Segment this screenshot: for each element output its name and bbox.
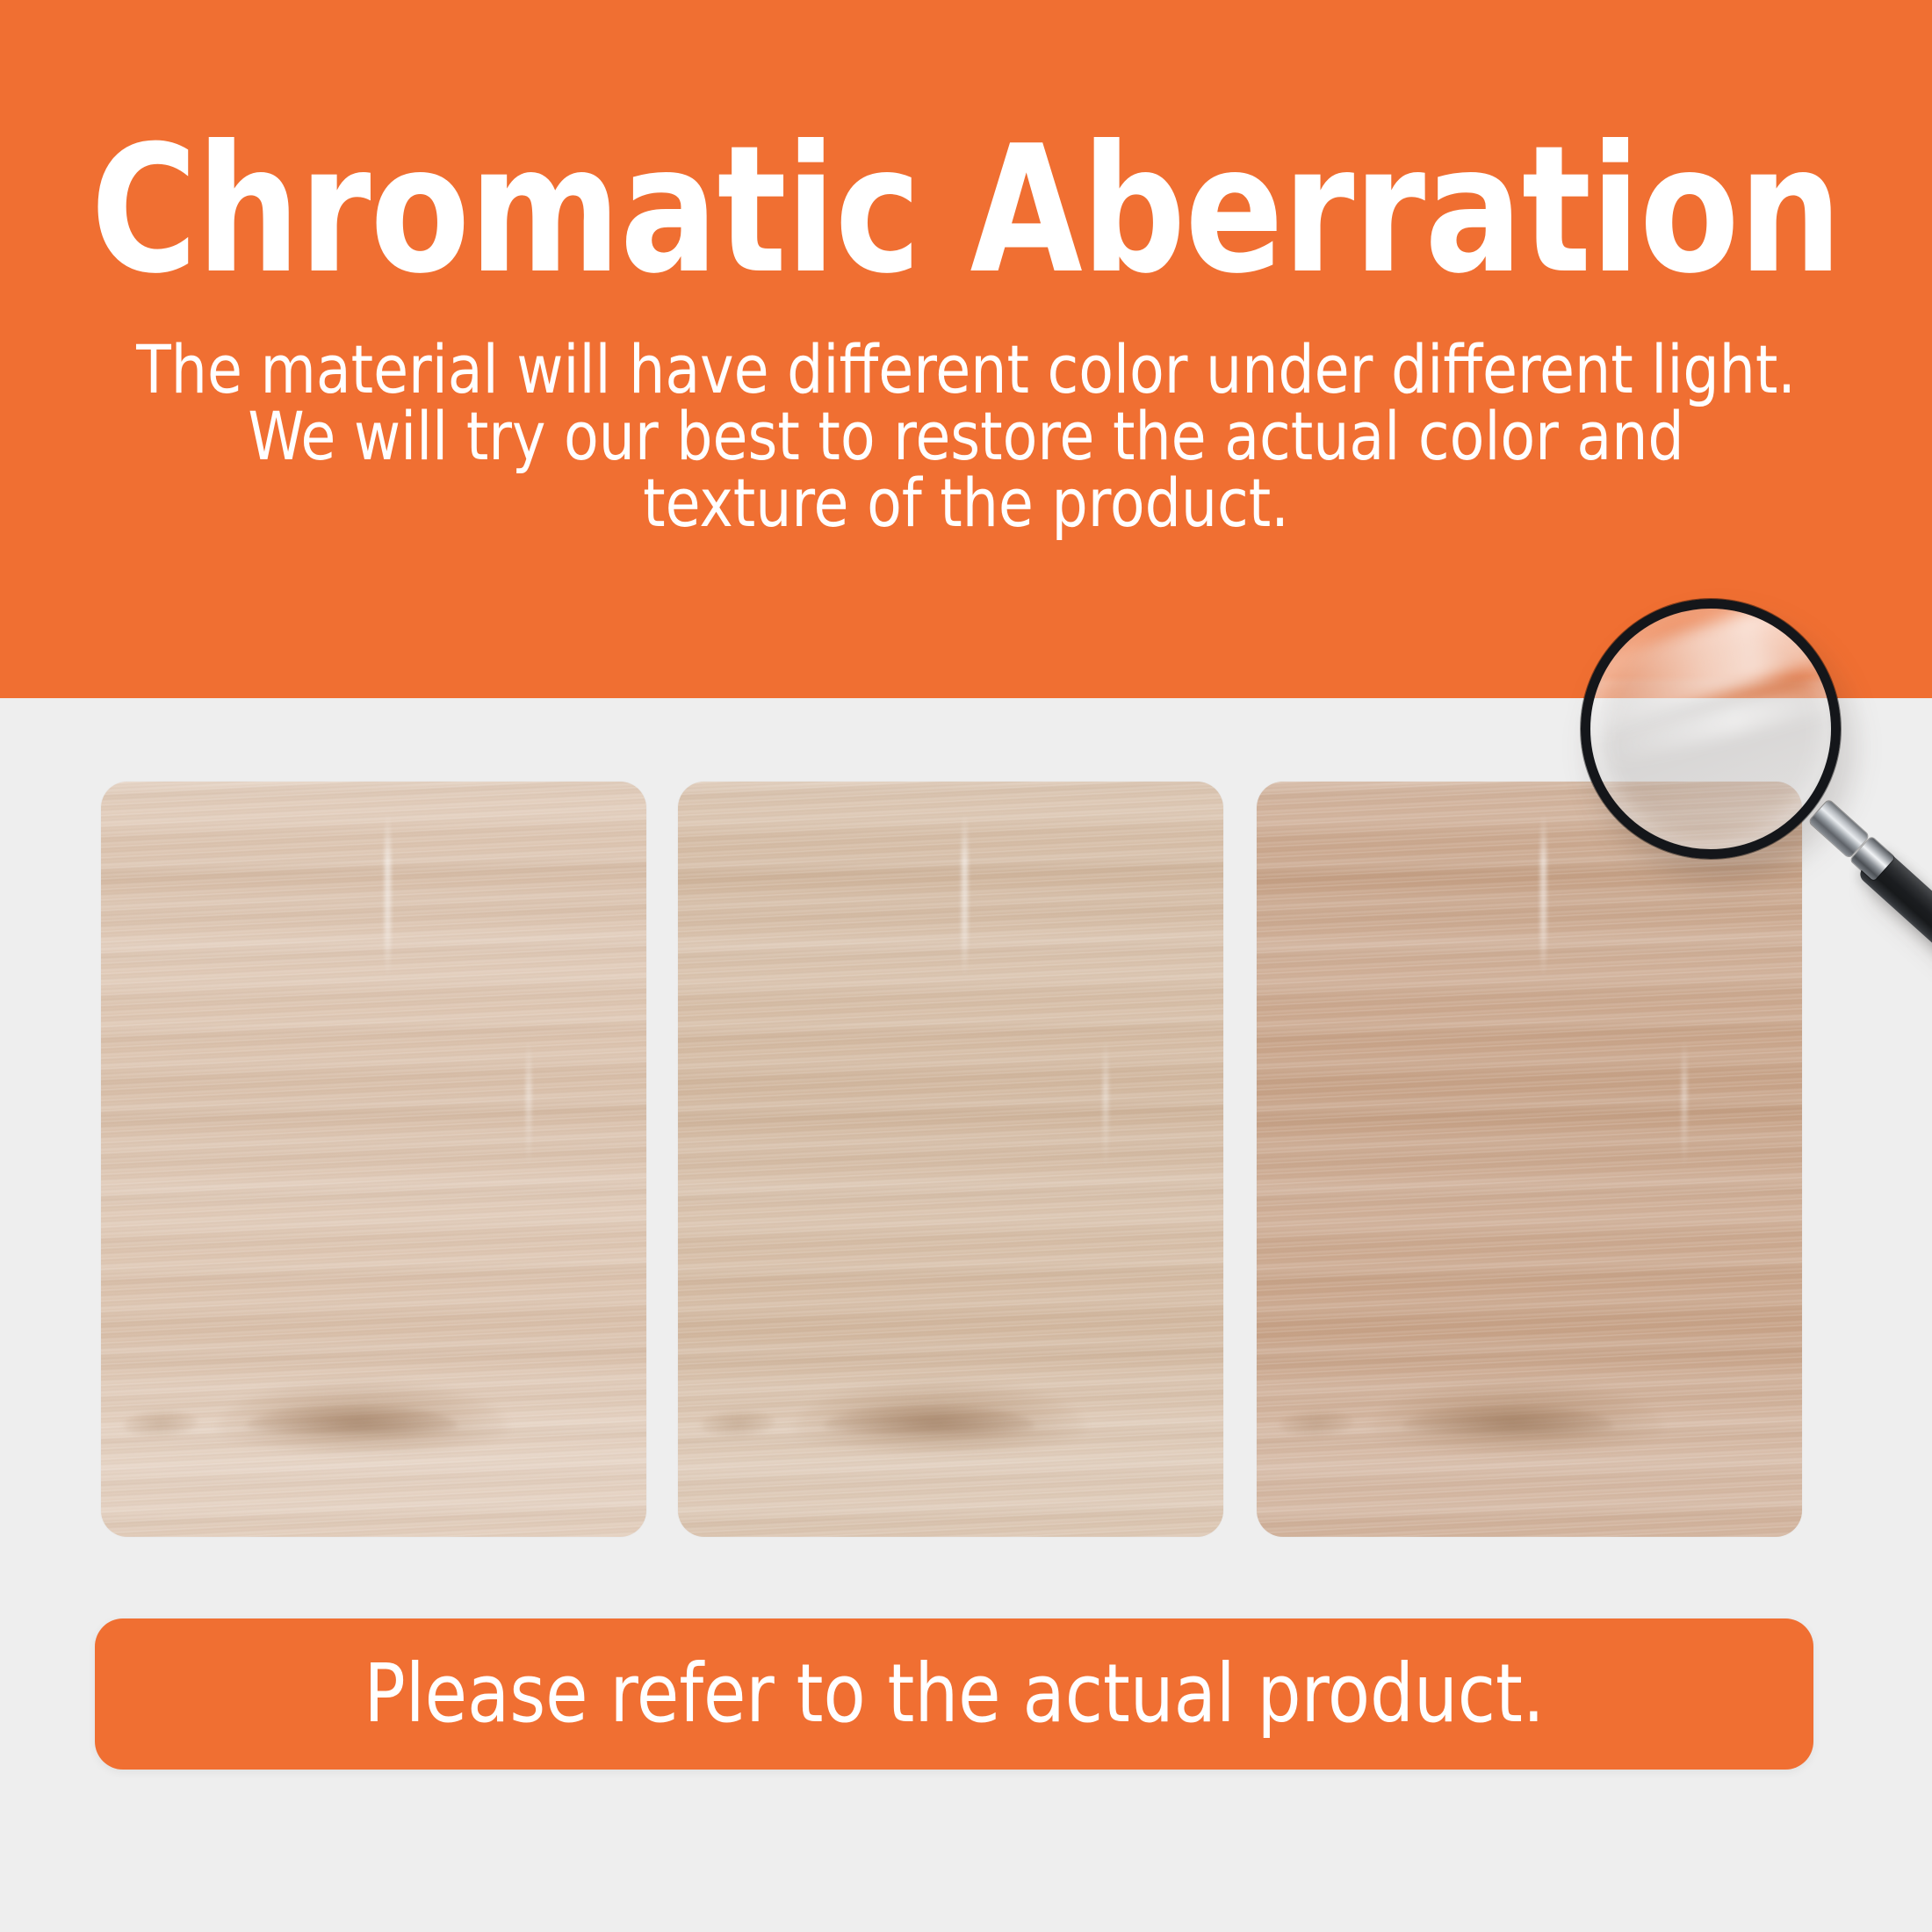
wood-streak	[1540, 811, 1546, 978]
magnifier-handle	[1856, 847, 1932, 1016]
magnifier-ferrule-inner	[1850, 837, 1895, 882]
subtitle-line-2: We will try our best to restore the actu…	[127, 403, 1805, 470]
wood-streak	[385, 811, 391, 978]
header-subtitle: The material will have different color u…	[83, 336, 1849, 537]
wood-sample-row	[101, 782, 1802, 1537]
wood-streak	[962, 811, 968, 978]
wood-texture-fill	[101, 782, 646, 1537]
subtitle-line-1: The material will have different color u…	[127, 336, 1805, 403]
chromatic-aberration-banner: Chromatic Aberration The material will h…	[0, 0, 1932, 1932]
magnifier-ferrule	[1809, 799, 1870, 858]
page-title: Chromatic Aberration	[77, 123, 1855, 299]
header-banner: Chromatic Aberration The material will h…	[0, 0, 1932, 698]
wood-sample-medium[interactable]	[678, 782, 1223, 1537]
wood-sample-light[interactable]	[101, 782, 646, 1537]
wood-texture-fill	[678, 782, 1223, 1537]
magnifier-handle-shadow	[1864, 865, 1932, 1031]
wood-sample-warm[interactable]	[1257, 782, 1802, 1537]
wood-texture-fill	[1257, 782, 1802, 1537]
refer-to-actual-product-banner[interactable]: Please refer to the actual product.	[95, 1618, 1813, 1770]
cta-label: Please refer to the actual product.	[364, 1654, 1544, 1734]
subtitle-line-3: texture of the product.	[127, 470, 1805, 537]
